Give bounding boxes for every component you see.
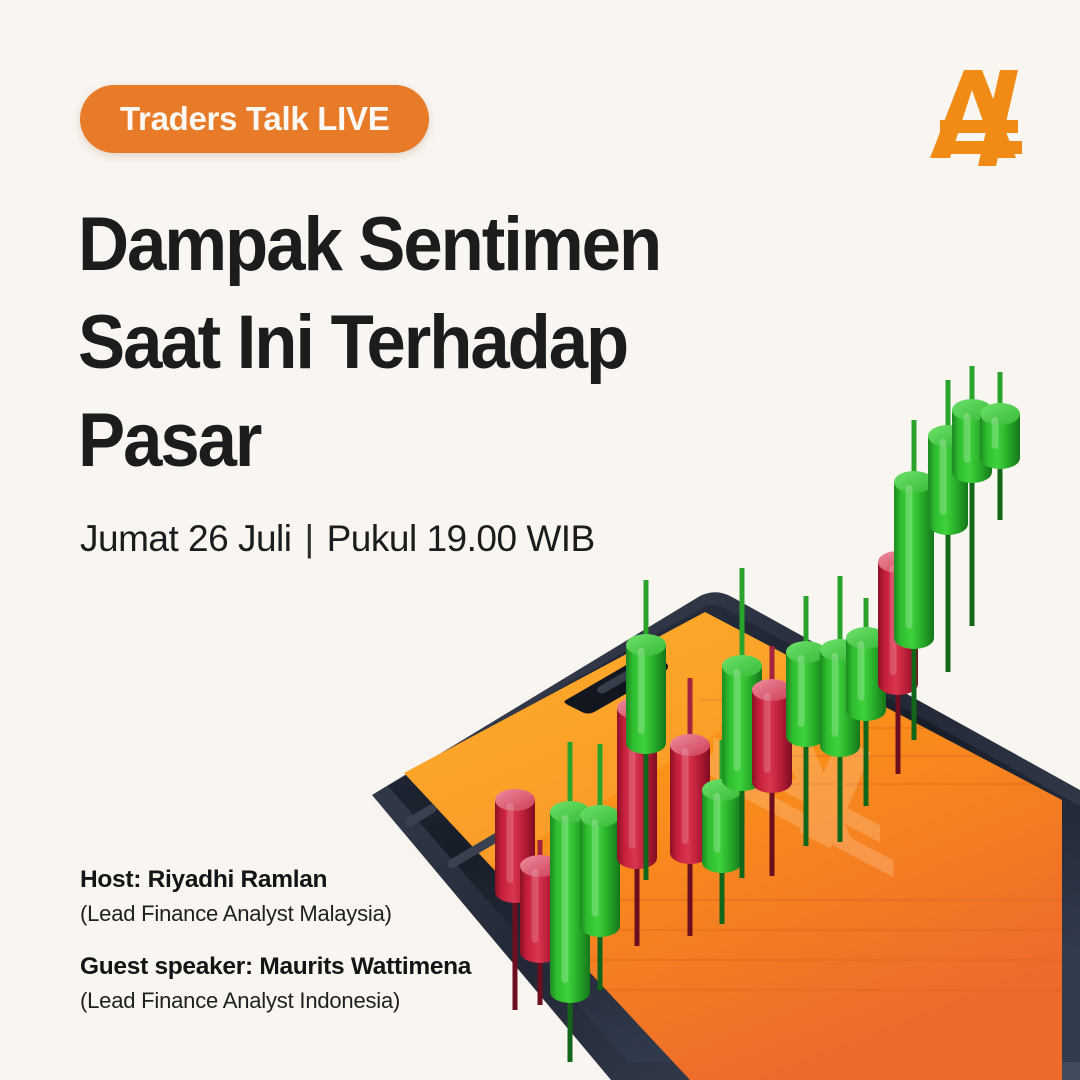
host-credit: Host: Riyadhi Ramlan (Lead Finance Analy… <box>80 866 471 927</box>
schedule-separator: | <box>305 518 314 560</box>
schedule-date: Jumat 26 Juli <box>80 518 292 560</box>
candlestick <box>980 372 1020 520</box>
guest-credit: Guest speaker: Maurits Wattimena (Lead F… <box>80 953 471 1014</box>
schedule-time: Pukul 19.00 WIB <box>327 518 595 560</box>
promo-poster: Traders Talk LIVE Dampak Sentimen Saat I… <box>0 0 1080 1080</box>
live-badge-label: Traders Talk LIVE <box>120 100 389 138</box>
live-badge[interactable]: Traders Talk LIVE <box>80 85 429 153</box>
credits: Host: Riyadhi Ramlan (Lead Finance Analy… <box>80 866 471 1014</box>
letter-a-currency-logo-icon <box>924 62 1032 166</box>
headline-line-1: Dampak Sentimen <box>78 196 729 294</box>
host-name: Host: Riyadhi Ramlan <box>80 866 471 894</box>
headline-line-3: Pasar <box>78 392 729 490</box>
headline-line-2: Saat Ini Terhadap <box>78 294 729 392</box>
schedule-line: Jumat 26 Juli | Pukul 19.00 WIB <box>80 518 595 560</box>
guest-role: (Lead Finance Analyst Indonesia) <box>80 988 471 1014</box>
guest-name: Guest speaker: Maurits Wattimena <box>80 953 471 981</box>
page-title: Dampak Sentimen Saat Ini Terhadap Pasar <box>78 196 778 490</box>
host-role: (Lead Finance Analyst Malaysia) <box>80 901 471 927</box>
